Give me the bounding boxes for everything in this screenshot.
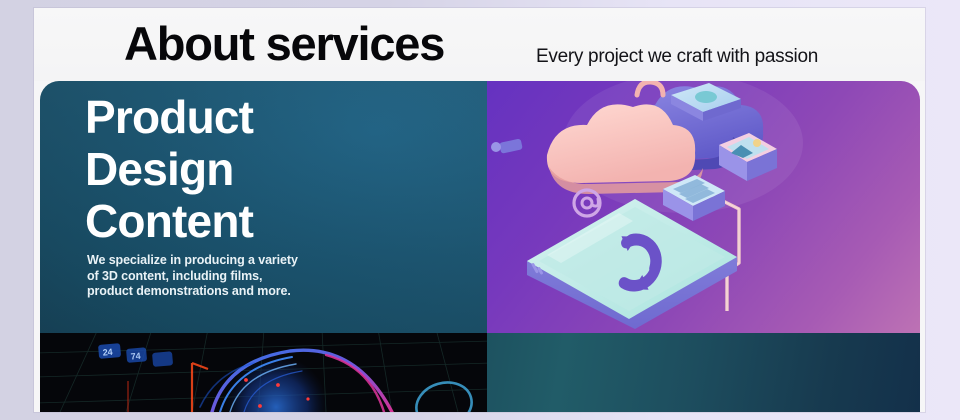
tech-light-trails-illustration: 24 74 (40, 333, 487, 412)
card-heading: Product Design Content (85, 91, 253, 247)
card-teal-panel[interactable] (487, 333, 920, 412)
card-heading-line-1: Product (85, 91, 253, 143)
card-body-text: We specialize in producing a variety of … (87, 253, 352, 300)
card-heading-line-3: Content (85, 195, 253, 247)
card-cloud-sync[interactable] (487, 81, 920, 333)
tech-badge-2: 74 (130, 351, 141, 362)
browser-panel: About services Every project we craft wi… (34, 8, 925, 412)
card-tech-visual[interactable]: 24 74 (40, 333, 487, 412)
cloud-sync-illustration (487, 81, 920, 333)
services-card-grid: Product Design Content We specialize in … (40, 81, 920, 412)
card-heading-line-2: Design (85, 143, 253, 195)
page-header: About services Every project we craft wi… (34, 8, 925, 81)
card-product-design-content[interactable]: Product Design Content We specialize in … (40, 81, 487, 333)
page-subtitle: Every project we craft with passion (536, 46, 818, 68)
card-body-line-1: We specialize in producing a variety (87, 253, 352, 269)
card-body-line-3: product demonstrations and more. (87, 284, 352, 300)
tech-badge-1: 24 (102, 347, 113, 358)
card-body-line-2: of 3D content, including films, (87, 269, 352, 285)
page-title: About services (124, 16, 444, 71)
